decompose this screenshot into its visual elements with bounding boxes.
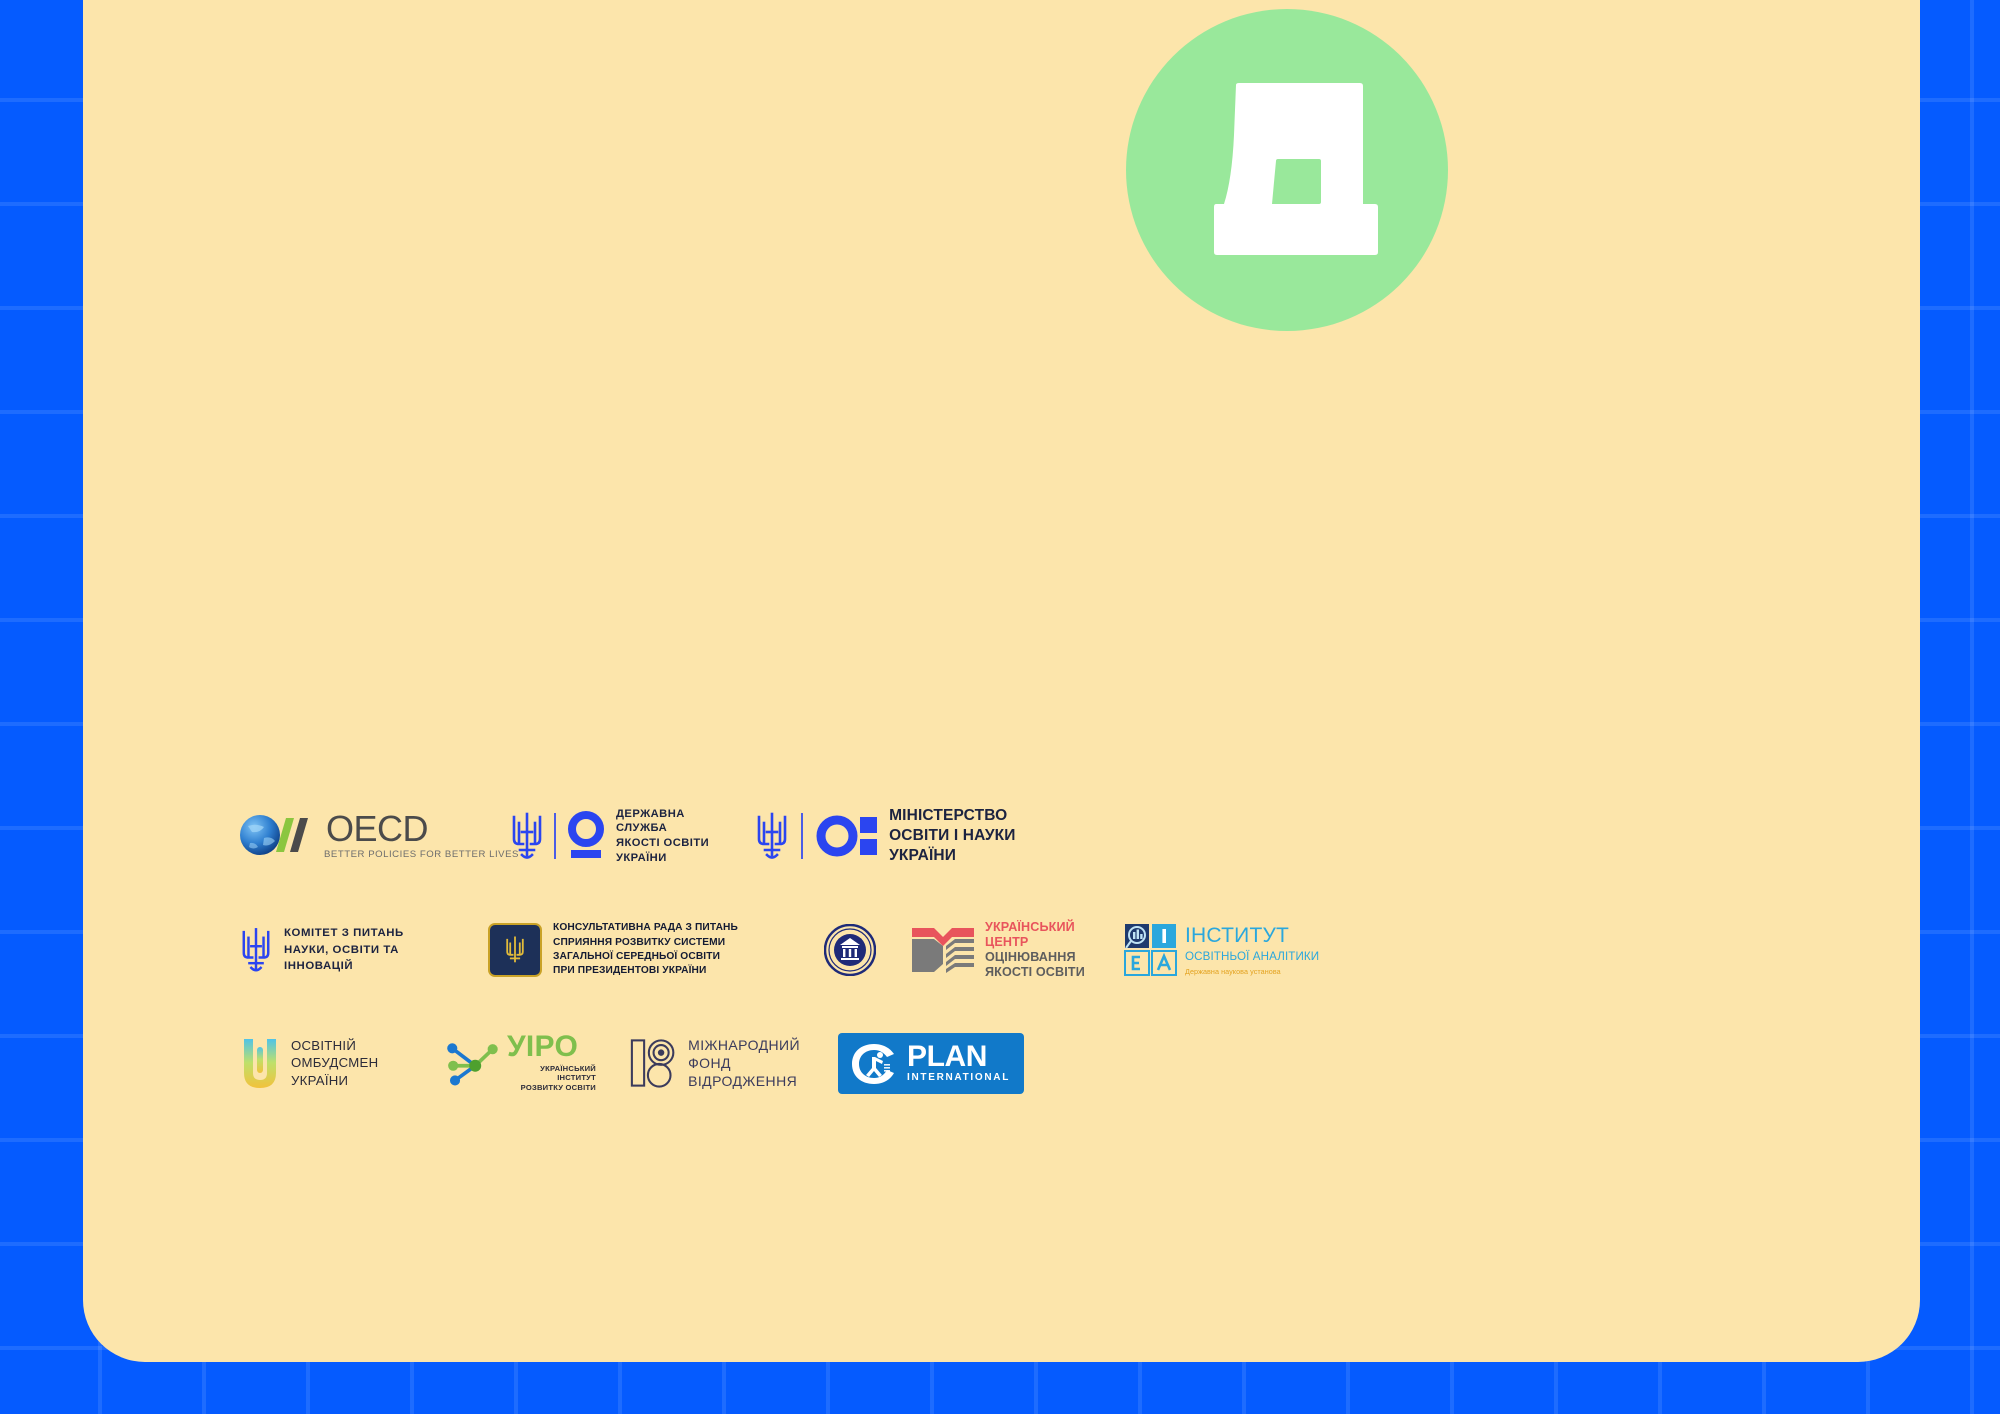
logo-ministry-education-science: МІНІСТЕРСТВО ОСВІТИ І НАУКИ УКРАЇНИ — [755, 800, 1016, 872]
oecd-wordmark: OECD — [326, 812, 519, 845]
logo-parliament-committee: КОМІТЕТ З ПИТАНЬ НАУКИ, ОСВІТИ ТА ІННОВА… — [240, 914, 488, 986]
content-card: OECD BETTER POLICIES FOR BETTER LIVES — [83, 0, 1920, 1362]
ihed-seal-icon — [824, 924, 876, 976]
uceqa-line-3: ОЦІНЮВАННЯ — [985, 950, 1085, 965]
renaissance-line-3: ВІДРОДЖЕННЯ — [688, 1072, 800, 1090]
partner-logo-wall: OECD BETTER POLICIES FOR BETTER LIVES — [240, 800, 1440, 1096]
renaissance-mark-icon — [630, 1036, 677, 1090]
council-line-2: СПРИЯННЯ РОЗВИТКУ СИСТЕМИ — [553, 936, 738, 950]
uceqa-line-1: УКРАЇНСЬКИЙ — [985, 920, 1085, 935]
logo-row-3: ОСВІТНІЙ ОМБУДСМЕН УКРАЇНИ — [240, 1030, 1440, 1096]
logo-ihed-seal — [808, 914, 892, 986]
uceqa-line-2: ЦЕНТР — [985, 935, 1085, 950]
council-line-1: КОНСУЛЬТАТИВНА РАДА З ПИТАНЬ — [553, 921, 738, 935]
page-root: OECD BETTER POLICIES FOR BETTER LIVES — [0, 0, 2000, 1414]
logo-renaissance-foundation: МІЖНАРОДНИЙ ФОНД ВІДРОДЖЕННЯ — [630, 1030, 800, 1096]
ombudsman-line-2: ОМБУДСМЕН — [291, 1054, 378, 1071]
logo-divider — [801, 813, 803, 859]
oecd-tagline: BETTER POLICIES FOR BETTER LIVES — [324, 849, 519, 860]
plan-wordmark: PLAN — [907, 1044, 1010, 1070]
sqe-mark-icon — [566, 811, 606, 861]
iea-text-lockup: ІНСТИТУТ ОСВІТНЬОЇ АНАЛІТИКИ Державна на… — [1185, 925, 1319, 975]
mon-text-lockup: МІНІСТЕРСТВО ОСВІТИ І НАУКИ УКРАЇНИ — [889, 806, 1016, 865]
council-line-3: ЗАГАЛЬНОЇ СЕРЕДНЬОЇ ОСВІТИ — [553, 950, 738, 964]
logo-divider — [554, 813, 556, 859]
mon-line-2: ОСВІТИ І НАУКИ — [889, 826, 1016, 846]
ombudsman-text-lockup: ОСВІТНІЙ ОМБУДСМЕН УКРАЇНИ — [291, 1037, 378, 1088]
iea-mark-icon — [1124, 923, 1178, 977]
sqe-line-2: СЛУЖБА — [616, 821, 709, 836]
plan-text-lockup: PLAN INTERNATIONAL — [907, 1044, 1010, 1083]
plan-sub: INTERNATIONAL — [907, 1073, 1010, 1083]
committee-text-lockup: КОМІТЕТ З ПИТАНЬ НАУКИ, ОСВІТИ ТА ІННОВА… — [284, 925, 404, 975]
logo-uipo: УІРО УКРАЇНСЬКИЙ ІНСТИТУТ РОЗВИТКУ ОСВІТ… — [444, 1030, 596, 1096]
uceqa-text-lockup: УКРАЇНСЬКИЙ ЦЕНТР ОЦІНЮВАННЯ ЯКОСТІ ОСВІ… — [985, 920, 1085, 980]
sqe-text-lockup: ДЕРЖАВНА СЛУЖБА ЯКОСТІ ОСВІТИ УКРАЇНИ — [616, 807, 709, 865]
uipo-text-lockup: УІРО УКРАЇНСЬКИЙ ІНСТИТУТ РОЗВИТКУ ОСВІТ… — [507, 1033, 596, 1093]
committee-line-1: КОМІТЕТ З ПИТАНЬ — [284, 925, 404, 942]
sqe-line-3: ЯКОСТІ ОСВІТИ — [616, 836, 709, 851]
renaissance-text-lockup: МІЖНАРОДНИЙ ФОНД ВІДРОДЖЕННЯ — [688, 1036, 800, 1091]
uipo-wordmark: УІРО — [507, 1033, 596, 1062]
logo-plan-international: PLAN INTERNATIONAL — [838, 1030, 1024, 1096]
ukraine-trident-icon — [755, 811, 789, 861]
open-book-icon — [910, 924, 976, 976]
committee-line-3: ІННОВАЦІЙ — [284, 958, 404, 975]
mon-line-1: МІНІСТЕРСТВО — [889, 806, 1016, 826]
ukraine-trident-icon — [240, 926, 272, 974]
uipo-sub-line-2: РОЗВИТКУ ОСВІТИ — [507, 1083, 596, 1093]
logo-institute-educational-analytics: ІНСТИТУТ ОСВІТНЬОЇ АНАЛІТИКИ Державна на… — [1124, 914, 1319, 986]
sqe-line-1: ДЕРЖАВНА — [616, 807, 709, 822]
plan-badge: PLAN INTERNATIONAL — [838, 1033, 1024, 1094]
ombudsman-line-3: УКРАЇНИ — [291, 1072, 378, 1089]
logo-advisory-council: КОНСУЛЬТАТИВНА РАДА З ПИТАНЬ СПРИЯННЯ РО… — [488, 914, 808, 986]
uceqa-line-4: ЯКОСТІ ОСВІТИ — [985, 965, 1085, 980]
logo-educational-ombudsman: ОСВІТНІЙ ОМБУДСМЕН УКРАЇНИ — [240, 1030, 416, 1096]
ombudsman-mark-icon — [240, 1037, 280, 1089]
council-line-4: ПРИ ПРЕЗИДЕНТОВІ УКРАЇНИ — [553, 964, 738, 978]
logo-oecd: OECD BETTER POLICIES FOR BETTER LIVES — [240, 800, 462, 872]
committee-line-2: НАУКИ, ОСВІТИ ТА — [284, 942, 404, 959]
oecd-globe-icon — [240, 814, 318, 858]
oecd-text-lockup: OECD BETTER POLICIES FOR BETTER LIVES — [324, 812, 519, 859]
logo-row-1: OECD BETTER POLICIES FOR BETTER LIVES — [240, 800, 1440, 872]
presidential-seal-icon — [488, 923, 542, 977]
ombudsman-line-1: ОСВІТНІЙ — [291, 1037, 378, 1054]
uipo-sub-lockup: УКРАЇНСЬКИЙ ІНСТИТУТ РОЗВИТКУ ОСВІТИ — [507, 1064, 596, 1093]
mon-line-3: УКРАЇНИ — [889, 846, 1016, 866]
iea-line-1: ІНСТИТУТ — [1185, 925, 1319, 946]
brand-emblem — [1126, 9, 1448, 331]
iea-line-2: ОСВІТНЬОЇ АНАЛІТИКИ — [1185, 951, 1319, 963]
uipo-network-icon — [444, 1036, 501, 1090]
logo-row-2: КОМІТЕТ З ПИТАНЬ НАУКИ, ОСВІТИ ТА ІННОВА… — [240, 914, 1440, 986]
renaissance-line-2: ФОНД — [688, 1054, 800, 1072]
mon-mark-icon — [815, 811, 877, 861]
letter-d-emblem-icon — [1192, 83, 1382, 258]
plan-child-icon — [850, 1042, 898, 1086]
iea-line-3: Державна наукова установа — [1185, 968, 1319, 975]
logo-ukrainian-center-education-quality: УКРАЇНСЬКИЙ ЦЕНТР ОЦІНЮВАННЯ ЯКОСТІ ОСВІ… — [910, 914, 1098, 986]
council-text-lockup: КОНСУЛЬТАТИВНА РАДА З ПИТАНЬ СПРИЯННЯ РО… — [553, 921, 738, 979]
renaissance-line-1: МІЖНАРОДНИЙ — [688, 1036, 800, 1054]
ukraine-trident-icon — [510, 811, 544, 861]
sqe-line-4: УКРАЇНИ — [616, 851, 709, 866]
uipo-sub-line-1: УКРАЇНСЬКИЙ ІНСТИТУТ — [507, 1064, 596, 1083]
logo-state-education-quality-service: ДЕРЖАВНА СЛУЖБА ЯКОСТІ ОСВІТИ УКРАЇНИ — [510, 800, 709, 872]
